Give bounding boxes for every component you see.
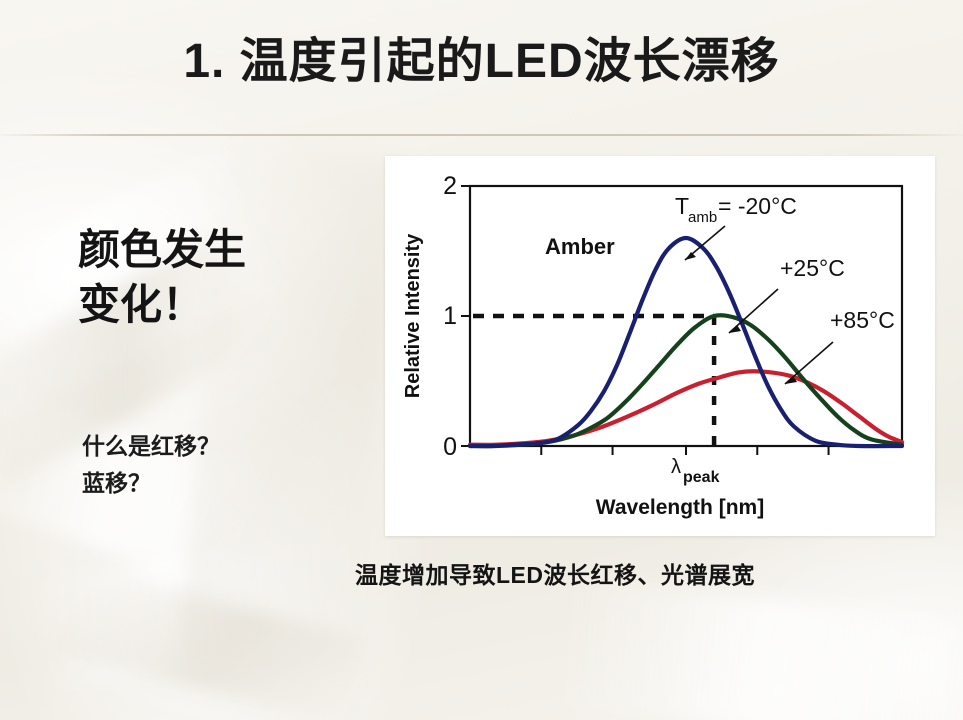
question-block: 什么是红移？ 蓝移？ xyxy=(82,428,372,503)
spectrum-chart: 2 1 0 Relative Intensity Wavelength [nm]… xyxy=(385,156,935,536)
annotation-plus85-text: +85°C xyxy=(830,307,895,333)
background-vein xyxy=(554,578,963,720)
slide-canvas: 1. 温度引起的LED波长漂移 颜色发生 变化！ 什么是红移？ 蓝移？ 2 1 xyxy=(0,0,963,720)
y-axis-ticks xyxy=(461,186,470,446)
slide-title-bar: 1. 温度引起的LED波长漂移 xyxy=(0,36,963,89)
background-shade xyxy=(54,565,367,720)
headline-block: 颜色发生 变化！ xyxy=(78,222,368,333)
annotation-arrowhead-minus20 xyxy=(685,252,696,260)
annotation-arrowhead-plus25 xyxy=(729,325,741,333)
annotation-tamb-text: T xyxy=(675,193,689,219)
question-line-2: 蓝移？ xyxy=(82,465,372,502)
y-tick-label-2: 2 xyxy=(443,172,457,200)
headline-line-1: 颜色发生 xyxy=(78,222,368,277)
spectrum-figure-card: 2 1 0 Relative Intensity Wavelength [nm]… xyxy=(385,156,935,536)
amber-series-label: Amber xyxy=(545,234,615,259)
figure-caption: 温度增加导致LED波长红移、光谱展宽 xyxy=(355,556,915,590)
y-tick-label-1: 1 xyxy=(443,302,457,330)
headline-text: 颜色发生 变化！ xyxy=(78,222,368,333)
x-axis-ticks xyxy=(541,446,828,455)
background-vein xyxy=(34,541,327,689)
spectrum-curve-plus85 xyxy=(470,371,902,445)
annotation-tamb-value: = -20°C xyxy=(718,193,797,219)
peak-wavelength-label: λ peak xyxy=(671,456,720,486)
y-tick-label-0: 0 xyxy=(443,433,457,461)
headline-line-2: 变化！ xyxy=(78,277,368,332)
x-axis-label: Wavelength [nm] xyxy=(596,496,764,519)
annotation-tamb-subscript: amb xyxy=(688,209,717,226)
lambda-peak-subscript: peak xyxy=(683,469,720,486)
question-line-1: 什么是红移？ xyxy=(82,428,372,465)
y-axis-label: Relative Intensity xyxy=(402,233,424,398)
lambda-symbol: λ xyxy=(671,456,681,478)
annotation-plus85: +85°C xyxy=(785,307,895,384)
annotation-plus25-text: +25°C xyxy=(780,255,845,281)
title-divider xyxy=(0,134,963,136)
spectrum-curve-plus25 xyxy=(470,315,902,446)
page-title: 1. 温度引起的LED波长漂移 xyxy=(0,36,963,89)
annotation-tamb-minus20: T amb = -20°C xyxy=(675,193,797,260)
